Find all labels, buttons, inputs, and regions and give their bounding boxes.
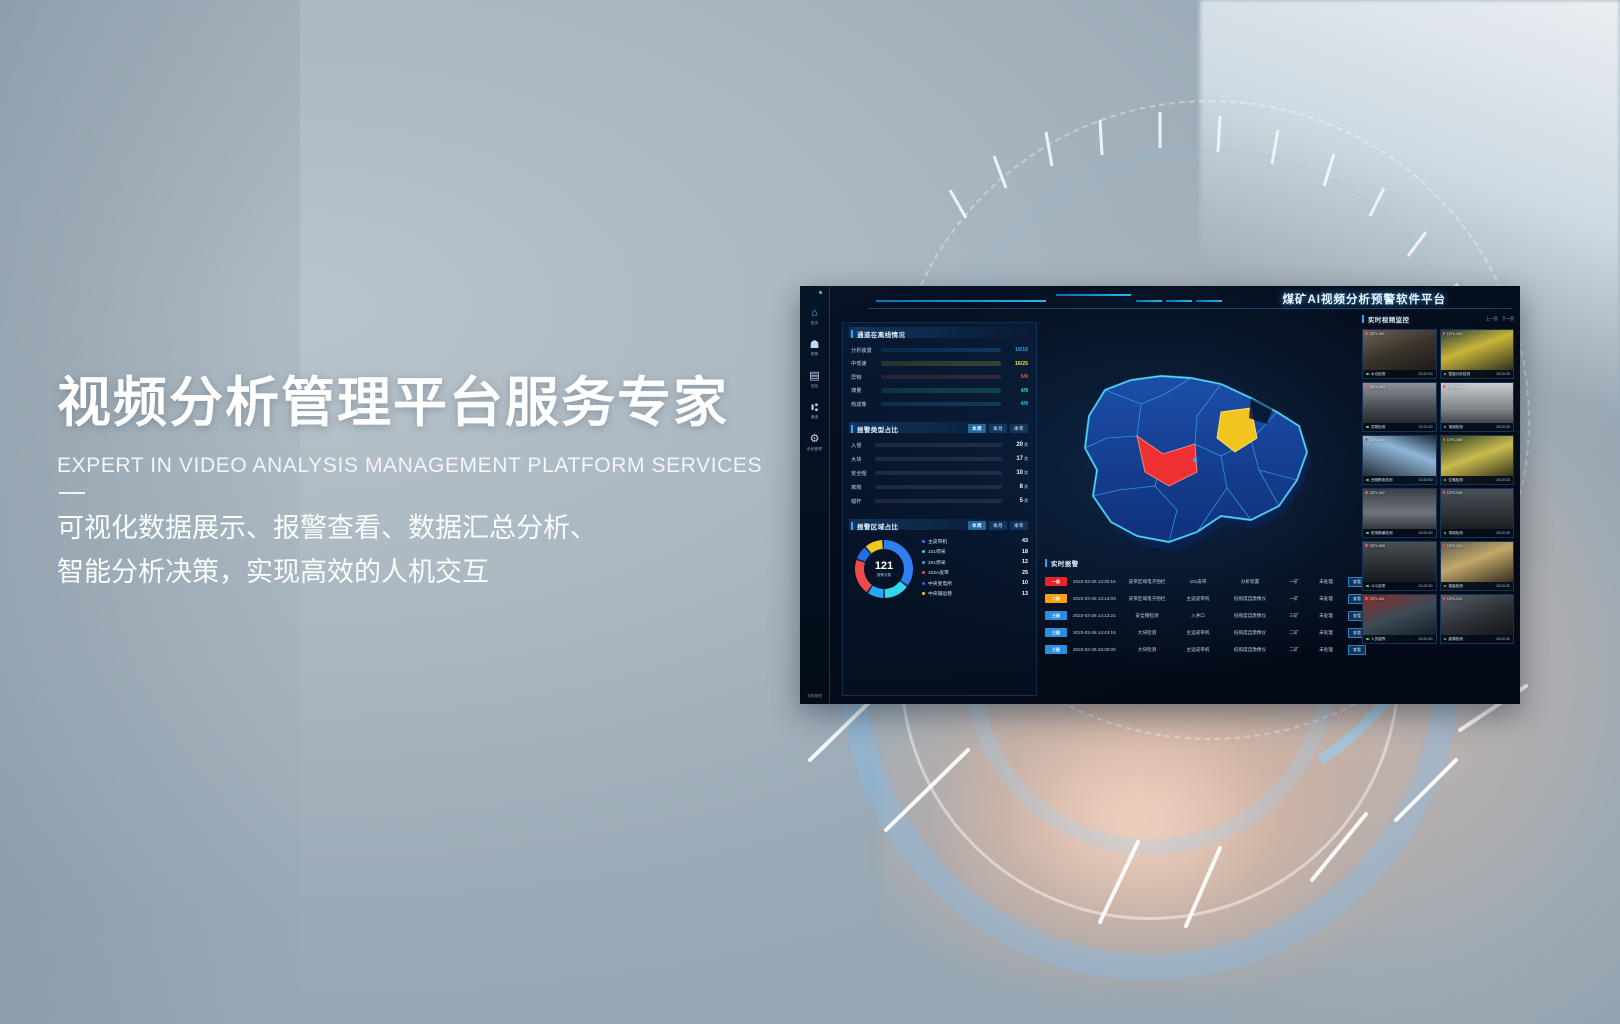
video-cell[interactable]: 口FX-003 异物检测 15:20:30 [1362, 382, 1437, 432]
video-time: 15:20:30 [1496, 531, 1510, 535]
topbar-edge-line [868, 308, 1512, 309]
hero-desc-line2: 智能分析决策，实现高效的人机交互 [57, 550, 817, 595]
channel-bar-track [881, 402, 1001, 407]
alarm-mine: 三矿 [1279, 613, 1309, 619]
alarm-status: 未处理 [1309, 613, 1343, 619]
channel-value: 4/9 [1001, 401, 1028, 407]
donut-legend-item: 中央辅运巷 13 [922, 590, 1028, 597]
video-name: 胶带跑偏检测 [1371, 531, 1393, 536]
realtime-alarm-header: 实时报警 [1045, 558, 1360, 568]
donut-legend-label: 主皮带机 [928, 538, 1022, 545]
video-cell[interactable]: 口FX-008 堆煤检测 15:20:30 [1440, 488, 1515, 538]
video-name: 异物检测 [1371, 425, 1385, 430]
video-name: 人员越界 [1371, 637, 1385, 642]
channel-status-row: 中低速 16/25 [851, 360, 1028, 367]
donut-legend-label: 中央变电所 [928, 580, 1022, 587]
video-cell[interactable]: 口FX-005 违规断电检测 15:20:30 [1362, 435, 1437, 485]
alarm-type-list: 入侵 20次 大块 17次 安全帽 10次 离岗 8次 错杆 5次 [851, 442, 1028, 505]
video-caption-bar: 堆煤检测 15:20:30 [1441, 423, 1514, 431]
alarm-type-unit: 次 [1024, 456, 1028, 461]
donut-chart: 121 报警次数 [853, 538, 915, 600]
panel-alarmarea-title: 报警区域占比 [857, 521, 898, 531]
recording-dot-icon [1443, 385, 1446, 388]
panel-alarmtype-title: 报警类型占比 [857, 424, 898, 434]
online-status-dot-icon [1366, 532, 1369, 535]
channel-status-row: 分析装置 10/16 [851, 347, 1028, 354]
channel-bar-track [881, 361, 1001, 366]
table-row[interactable]: 三级 2023-03-26 14:43:18 大块检测 主运皮带机 低照度自激像… [1045, 624, 1360, 641]
alarm-type-label: 错杆 [851, 498, 875, 505]
video-name: 斗斗皮带 [1371, 584, 1385, 589]
donut-legend-label: 中央辅运巷 [928, 590, 1022, 597]
recording-dot-icon [1365, 332, 1368, 335]
video-caption-bar: 水仓检测 15:20:30 [1363, 370, 1436, 378]
alarm-level-badge: 三级 [1045, 628, 1067, 637]
alarmarea-tab-本月[interactable]: 本月 [989, 521, 1007, 530]
channel-status-row: 热成像 4/9 [851, 401, 1028, 408]
alarm-type-bar-track [875, 443, 1002, 448]
alarm-type-value: 8次 [1002, 484, 1028, 490]
alarmarea-tab-本周[interactable]: 本周 [968, 521, 986, 530]
alarm-area: 101皮带 [1175, 579, 1221, 585]
online-status-dot-icon [1444, 373, 1447, 376]
left-stats-column: 通道在离线情况 分析装置 10/16 中低速 16/25 异物 5/9 煤量 4… [842, 322, 1037, 696]
video-code: 口FX-006 [1443, 438, 1463, 443]
recording-dot-icon [1443, 332, 1446, 335]
recording-dot-icon [1365, 544, 1368, 547]
alarm-time: 2023-03-26 14:43:18 [1067, 630, 1119, 635]
table-row[interactable]: 三级 2023-03-26 15:30:00 大块检测 主运皮带机 低照度自激像… [1045, 641, 1360, 658]
alarm-type-bar-track [875, 499, 1002, 504]
alarm-type-unit: 次 [1024, 484, 1028, 489]
alarm-type-value: 17次 [1002, 456, 1028, 462]
sidebar-item-home-label: 首页 [801, 321, 829, 326]
province-map-svg [1045, 320, 1365, 565]
online-status-dot-icon [1366, 638, 1369, 641]
alarm-area: 主运皮带机 [1175, 647, 1221, 653]
recording-dot-icon [1443, 544, 1446, 547]
alarm-type-label: 安全帽 [851, 470, 875, 477]
alarm-level-badge: 三级 [1045, 645, 1067, 654]
alarm-mine: 一矿 [1279, 596, 1309, 602]
channel-value: 16/25 [1001, 361, 1028, 367]
channel-value: 5/9 [1001, 374, 1028, 380]
video-name: 违规断电检测 [1371, 478, 1393, 483]
topbar-accent-1 [876, 300, 1046, 302]
channel-icon: ⑆ [801, 403, 829, 414]
alarmtype-range-tabs[interactable]: 本周本月本年 [968, 424, 1028, 433]
donut-center-value: 121 [875, 561, 893, 572]
alarm-area: 主运皮带机 [1175, 596, 1221, 602]
online-status-dot-icon [1366, 426, 1369, 429]
alarm-status: 未处理 [1309, 647, 1343, 653]
video-time: 15:20:30 [1496, 372, 1510, 376]
video-time: 15:20:30 [1419, 584, 1433, 588]
video-time: 15:20:30 [1419, 372, 1433, 376]
video-time: 15:20:30 [1419, 637, 1433, 641]
province-map[interactable] [1045, 320, 1365, 565]
alarm-time: 2023-03-26 13:14:03 [1067, 596, 1119, 601]
hero-desc-line1: 可视化数据展示、报警查看、数据汇总分析、 [57, 506, 817, 551]
alarm-status: 未处理 [1309, 579, 1343, 585]
recording-dot-icon [1365, 597, 1368, 600]
video-name: 空巷检测 [1449, 478, 1463, 483]
alarm-time: 2023-03-26 15:30:00 [1067, 647, 1119, 652]
panel-accent-bar [1045, 559, 1047, 567]
online-status-dot-icon [1444, 585, 1447, 588]
video-caption-bar: 空巷检测 15:20:30 [1441, 476, 1514, 484]
video-code: 口FX-007 [1365, 491, 1385, 496]
donut-legend-item: 主皮带机 43 [922, 538, 1028, 545]
video-caption-bar: 超清检测 15:20:30 [1441, 635, 1514, 643]
sidebar-item-home[interactable]: ⌂ 首页 [801, 308, 829, 326]
hero-subtitle-en: EXPERT IN VIDEO ANALYSIS MANAGEMENT PLAT… [57, 454, 817, 478]
video-caption-bar: 煤量检测 15:20:30 [1441, 582, 1514, 590]
donut-legend-item: 201停采 12 [922, 559, 1028, 566]
alarm-device: 低照度自激像仪 [1221, 596, 1279, 602]
video-time: 15:20:30 [1419, 425, 1433, 429]
topbar-accent-2 [1056, 294, 1131, 296]
channel-label: 热成像 [851, 401, 881, 408]
donut-legend-item: 中央变电所 10 [922, 580, 1028, 587]
table-row[interactable]: 二级 2023-03-26 13:14:03 皮带区域电子围栏 主运皮带机 低照… [1045, 590, 1360, 607]
donut-legend-dot [922, 592, 925, 595]
dashboard-topbar: 煤矿AI视频分析预警软件平台 [860, 286, 1520, 316]
channel-status-row: 异物 5/9 [851, 374, 1028, 381]
donut-legend-dot [922, 582, 925, 585]
video-code: 口FX-005 [1365, 438, 1385, 443]
dashboard-screen: ⌂ 首页 ☗ 报警 ▤ 巡检 ⑆ 通道 ⚙ 系统管理 权限管理 [800, 286, 1520, 704]
topbar-accent-3 [1136, 300, 1162, 302]
sidebar-item-system-label: 系统管理 [801, 447, 829, 452]
donut-legend-value: 12 [1022, 559, 1028, 565]
channel-bar-track [881, 388, 1001, 393]
online-status-dot-icon [1444, 426, 1447, 429]
video-code: 口FX-011 [1365, 597, 1385, 602]
alarm-device: 低照度自激像仪 [1221, 613, 1279, 619]
alarm-type-unit: 次 [1024, 498, 1028, 503]
alarm-area-donut-block: 121 报警次数 主皮带机 43 101停采 18 201停采 12 102A皮… [851, 538, 1028, 602]
channel-label: 煤量 [851, 387, 881, 394]
alarm-type-label: 入侵 [851, 442, 875, 449]
video-code: 口FX-010 [1443, 544, 1463, 549]
recording-dot-icon [1365, 385, 1368, 388]
recording-dot-icon [1443, 597, 1446, 600]
panel-accent-bar [851, 522, 853, 530]
recording-dot-icon [1365, 491, 1368, 494]
dashboard-sidebar: ⌂ 首页 ☗ 报警 ▤ 巡检 ⑆ 通道 ⚙ 系统管理 权限管理 [800, 286, 830, 704]
channel-status-list: 分析装置 10/16 中低速 16/25 异物 5/9 煤量 4/9 热成像 4… [851, 347, 1028, 408]
sidebar-item-channel-label: 通道 [801, 415, 829, 420]
alarm-time: 2023-03-26 13:30:16 [1067, 579, 1119, 584]
channel-value: 4/9 [1001, 388, 1028, 394]
home-icon: ⌂ [801, 308, 829, 319]
dashboard-content: 煤矿AI视频分析预警软件平台 通道在离线情况 分析装置 10/16 中低速 [830, 286, 1520, 704]
donut-legend-value: 18 [1022, 549, 1028, 555]
alarm-mine: 二矿 [1279, 647, 1309, 653]
sidebar-item-channel[interactable]: ⑆ 通道 [801, 403, 829, 421]
page-title: 视频分析管理平台服务专家 [57, 372, 817, 436]
recording-dot-icon [1443, 491, 1446, 494]
donut-legend-dot [922, 550, 925, 553]
map-marker-dot[interactable] [1193, 458, 1197, 462]
channel-label: 分析装置 [851, 347, 881, 354]
sidebar-item-inspection[interactable]: ▤ 巡检 [801, 371, 829, 389]
table-row[interactable]: 三级 2023-03-26 14:13:21 安全帽检测 入井口 低照度自激像仪… [1045, 607, 1360, 624]
online-status-dot-icon [1444, 479, 1447, 482]
video-time: 15:20:30 [1419, 531, 1433, 535]
video-cell[interactable]: 口FX-011 人员越界 15:20:30 [1362, 594, 1437, 644]
video-cell[interactable]: 口FX-004 堆煤检测 15:20:30 [1440, 382, 1515, 432]
panel-accent-bar [851, 330, 853, 338]
donut-legend-value: 43 [1022, 538, 1028, 544]
alarm-type-value: 10次 [1002, 470, 1028, 476]
hero-divider [59, 492, 85, 494]
gear-icon: ⚙ [801, 434, 829, 445]
video-time: 15:20:30 [1496, 637, 1510, 641]
alarm-area: 主运皮带机 [1175, 630, 1221, 636]
alarm-type: 皮带区域电子围栏 [1119, 579, 1175, 585]
recording-dot-icon [1443, 438, 1446, 441]
alarm-type-row: 入侵 20次 [851, 442, 1028, 449]
alarm-type-row: 离岗 8次 [851, 484, 1028, 491]
donut-legend-value: 13 [1022, 591, 1028, 597]
video-grid: 口FX-001 水仓检测 15:20:30 口FX-002 智能分析检测 15:… [1362, 329, 1514, 644]
donut-legend-label: 101停采 [928, 548, 1022, 555]
topbar-accent-5 [1196, 300, 1222, 302]
video-code: 口FX-001 [1365, 332, 1385, 337]
video-caption-bar: 违规断电检测 15:20:30 [1363, 476, 1436, 484]
channel-bar-track [881, 348, 1001, 353]
channel-bar-track [881, 375, 1001, 380]
alarm-type-bar-track [875, 471, 1002, 476]
video-name: 水仓检测 [1371, 372, 1385, 377]
alarmtype-tab-本周[interactable]: 本周 [968, 424, 986, 433]
video-code: 口FX-004 [1443, 385, 1463, 390]
alarm-device: 低照度自激像仪 [1221, 647, 1279, 653]
video-time: 15:20:30 [1496, 425, 1510, 429]
video-time: 15:20:30 [1419, 478, 1433, 482]
realtime-alarm-table: 一级 2023-03-26 13:30:16 皮带区域电子围栏 101皮带 分析… [1045, 573, 1360, 658]
alarm-type: 皮带区域电子围栏 [1119, 596, 1175, 602]
alarm-type-row: 错杆 5次 [851, 498, 1028, 505]
donut-legend-dot [922, 571, 925, 574]
alarm-device: 分析装置 [1221, 579, 1279, 585]
alarm-status: 未处理 [1309, 630, 1343, 636]
video-name: 智能分析检测 [1449, 372, 1471, 377]
alarm-type-bar-track [875, 485, 1002, 490]
panel-accent-bar [1362, 315, 1364, 323]
alarm-area: 入井口 [1175, 613, 1221, 619]
video-code: 口FX-002 [1443, 332, 1463, 337]
sidebar-footer-label: 权限管理 [800, 694, 829, 699]
channel-label: 异物 [851, 374, 881, 381]
channel-label: 中低速 [851, 360, 881, 367]
clipboard-icon: ▤ [801, 371, 829, 382]
alarm-device: 低照度自激像仪 [1221, 630, 1279, 636]
alarm-level-badge: 三级 [1045, 611, 1067, 620]
video-caption-bar: 异物检测 15:20:30 [1363, 423, 1436, 431]
video-code: 口FX-009 [1365, 544, 1385, 549]
alarm-status: 未处理 [1309, 596, 1343, 602]
donut-legend-label: 201停采 [928, 559, 1022, 566]
channel-value: 10/16 [1001, 347, 1028, 353]
video-cell[interactable]: 口FX-002 智能分析检测 15:20:30 [1440, 329, 1515, 379]
background-hand-highlight [930, 720, 1350, 980]
donut-legend-value: 25 [1022, 570, 1028, 576]
alarmtype-tab-本年[interactable]: 本年 [1010, 424, 1028, 433]
video-name: 堆煤检测 [1449, 425, 1463, 430]
video-caption-bar: 胶带跑偏检测 15:20:30 [1363, 529, 1436, 537]
donut-legend-label: 102A皮带 [928, 569, 1022, 576]
alarm-type-row: 安全帽 10次 [851, 470, 1028, 477]
video-name: 煤量检测 [1449, 584, 1463, 589]
alarm-type: 大块检测 [1119, 630, 1175, 636]
hero-copy: 视频分析管理平台服务专家 EXPERT IN VIDEO ANALYSIS MA… [57, 372, 817, 595]
sidebar-item-inspection-label: 巡检 [801, 384, 829, 389]
video-pager[interactable]: 上一页 下一页 [1486, 316, 1514, 322]
panel-accent-bar [851, 425, 853, 433]
alarm-type-unit: 次 [1024, 470, 1028, 475]
donut-legend-item: 101停采 18 [922, 548, 1028, 555]
alarm-type-bar-track [875, 457, 1002, 462]
realtime-alarm-panel: 实时报警 一级 2023-03-26 13:30:16 皮带区域电子围栏 101… [1045, 558, 1360, 698]
video-cell[interactable]: 口FX-007 胶带跑偏检测 15:20:30 [1362, 488, 1437, 538]
alarm-mine: 二矿 [1279, 630, 1309, 636]
video-caption-bar: 人员越界 15:20:30 [1363, 635, 1436, 643]
table-row[interactable]: 一级 2023-03-26 13:30:16 皮带区域电子围栏 101皮带 分析… [1045, 573, 1360, 590]
video-code: 口FX-008 [1443, 491, 1463, 496]
sidebar-item-system[interactable]: ⚙ 系统管理 [801, 434, 829, 452]
dashboard-title: 煤矿AI视频分析预警软件平台 [1283, 291, 1447, 307]
video-time: 15:20:30 [1496, 478, 1510, 482]
channel-status-row: 煤量 4/9 [851, 387, 1028, 394]
topbar-accent-4 [1166, 300, 1192, 302]
video-prev-page-button[interactable]: 上一页 [1486, 316, 1498, 322]
donut-legend: 主皮带机 43 101停采 18 201停采 12 102A皮带 25 中央变电… [915, 538, 1028, 602]
video-code: 口FX-003 [1365, 385, 1385, 390]
alarmtype-tab-本月[interactable]: 本月 [989, 424, 1007, 433]
alarm-type-value: 5次 [1002, 498, 1028, 504]
video-cell[interactable]: 口FX-009 斗斗皮带 15:20:30 [1362, 541, 1437, 591]
video-caption-bar: 斗斗皮带 15:20:30 [1363, 582, 1436, 590]
donut-center-caption: 报警次数 [877, 573, 891, 578]
video-cell[interactable]: 口FX-006 空巷检测 15:20:30 [1440, 435, 1515, 485]
panel-channel-title: 通道在离线情况 [857, 329, 905, 339]
alarm-type: 安全帽检测 [1119, 613, 1175, 619]
video-cell[interactable]: 口FX-010 煤量检测 15:20:30 [1440, 541, 1515, 591]
alarmarea-tab-本年[interactable]: 本年 [1010, 521, 1028, 530]
sidebar-status-dot [819, 291, 822, 294]
alarm-mine: 一矿 [1279, 579, 1309, 585]
video-cell[interactable]: 口FX-012 超清检测 15:20:30 [1440, 594, 1515, 644]
online-status-dot-icon [1444, 532, 1447, 535]
online-status-dot-icon [1366, 585, 1369, 588]
online-status-dot-icon [1366, 373, 1369, 376]
video-next-page-button[interactable]: 下一页 [1502, 316, 1514, 322]
alarm-level-badge: 一级 [1045, 577, 1067, 586]
sidebar-item-alarm-label: 报警 [801, 352, 829, 357]
alarm-type-label: 离岗 [851, 484, 875, 491]
donut-legend-dot [922, 540, 925, 543]
video-caption-bar: 堆煤检测 15:20:30 [1441, 529, 1514, 537]
recording-dot-icon [1365, 438, 1368, 441]
alarm-type-label: 大块 [851, 456, 875, 463]
alarm-type-row: 大块 17次 [851, 456, 1028, 463]
video-monitor-panel: 实时视频监控 上一页 下一页 口FX-001 水仓检测 15:20:30 口FX… [1362, 314, 1514, 698]
realtime-alarm-title: 实时报警 [1051, 558, 1079, 568]
online-status-dot-icon [1366, 479, 1369, 482]
video-cell[interactable]: 口FX-001 水仓检测 15:20:30 [1362, 329, 1437, 379]
video-time: 15:20:30 [1496, 584, 1510, 588]
video-code: 口FX-012 [1443, 597, 1463, 602]
video-name: 超清检测 [1449, 637, 1463, 642]
donut-legend-dot [922, 561, 925, 564]
online-status-dot-icon [1444, 638, 1447, 641]
alarm-type: 大块检测 [1119, 647, 1175, 653]
video-caption-bar: 智能分析检测 15:20:30 [1441, 370, 1514, 378]
alarm-level-badge: 二级 [1045, 594, 1067, 603]
alarmarea-range-tabs[interactable]: 本周本月本年 [968, 521, 1028, 530]
alarm-type-unit: 次 [1024, 442, 1028, 447]
video-name: 堆煤检测 [1449, 531, 1463, 536]
alarm-type-value: 20次 [1002, 442, 1028, 448]
alarm-time: 2023-03-26 14:13:21 [1067, 613, 1119, 618]
alarm-lamp-icon: ☗ [801, 340, 829, 351]
donut-legend-value: 10 [1022, 580, 1028, 586]
sidebar-item-alarm[interactable]: ☗ 报警 [801, 340, 829, 358]
donut-legend-item: 102A皮带 25 [922, 569, 1028, 576]
